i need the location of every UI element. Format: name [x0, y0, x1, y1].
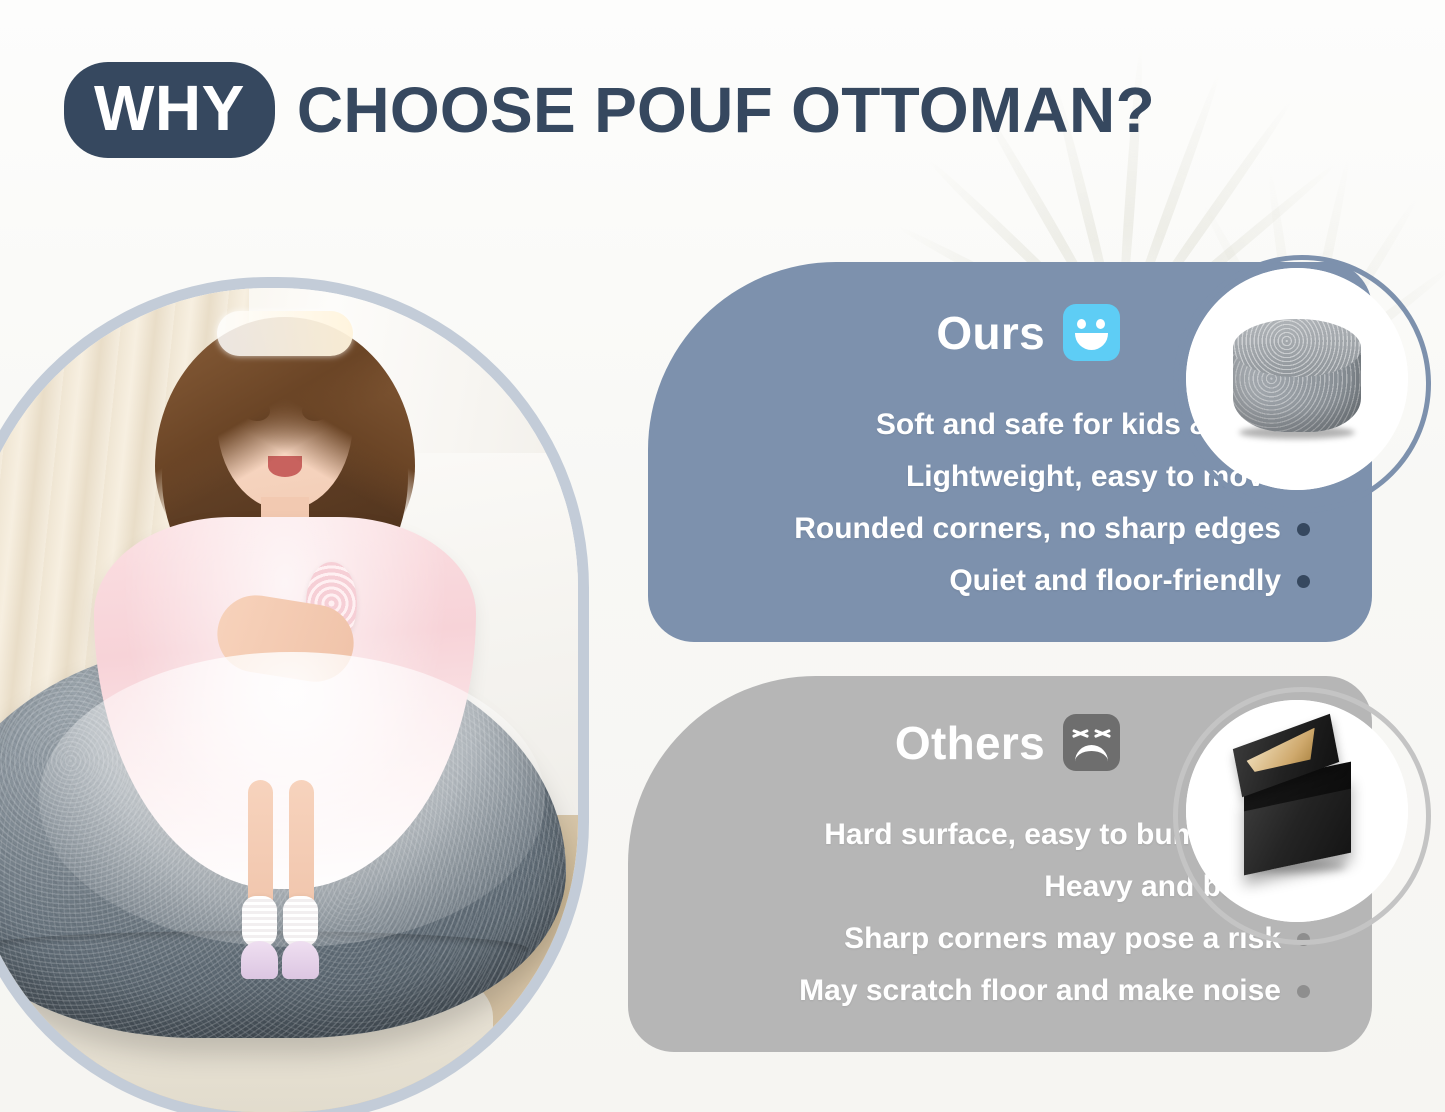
round-pouf-top [1233, 319, 1362, 377]
girl-figure [114, 304, 456, 947]
ours-header: Ours [936, 304, 1120, 361]
list-item: May scratch floor and make noise [628, 976, 1372, 1006]
girl-sock-right [283, 896, 317, 947]
bullet-dot-icon [1297, 985, 1310, 998]
hero-photo-frame [0, 288, 578, 1112]
list-item: Rounded corners, no sharp edges [648, 514, 1372, 544]
page-title: WHY CHOOSE POUF OTTOMAN? [64, 62, 1155, 158]
others-product-thumbnail [1186, 700, 1408, 922]
infographic-canvas: WHY CHOOSE POUF OTTOMAN? [0, 0, 1445, 1112]
bullet-text: Quiet and floor-friendly [949, 566, 1281, 596]
title-text: CHOOSE POUF OTTOMAN? [297, 78, 1155, 142]
bullet-dot-icon [1297, 523, 1310, 536]
ours-product-thumbnail [1186, 268, 1408, 490]
girl-shoe-right [282, 941, 320, 980]
bullet-text: May scratch floor and make noise [799, 976, 1281, 1006]
others-title: Others [895, 720, 1045, 766]
hero-photo-image [0, 288, 578, 1112]
why-badge: WHY [64, 62, 275, 158]
others-header: Others [895, 714, 1120, 771]
girl-shoe-left [241, 941, 279, 980]
sad-face-icon [1063, 714, 1120, 771]
bullet-text: Rounded corners, no sharp edges [794, 514, 1281, 544]
ours-title: Ours [936, 310, 1045, 356]
bullet-text: Sharp corners may pose a risk [844, 924, 1281, 954]
list-item: Quiet and floor-friendly [648, 566, 1372, 596]
ours-thumbnail-image [1186, 268, 1408, 490]
others-thumbnail-image [1186, 700, 1408, 922]
bullet-dot-icon [1297, 575, 1310, 588]
girl-sock-left [242, 896, 276, 947]
hero-photo [0, 288, 578, 1112]
happy-face-icon [1063, 304, 1120, 361]
girl-headband [217, 311, 354, 356]
